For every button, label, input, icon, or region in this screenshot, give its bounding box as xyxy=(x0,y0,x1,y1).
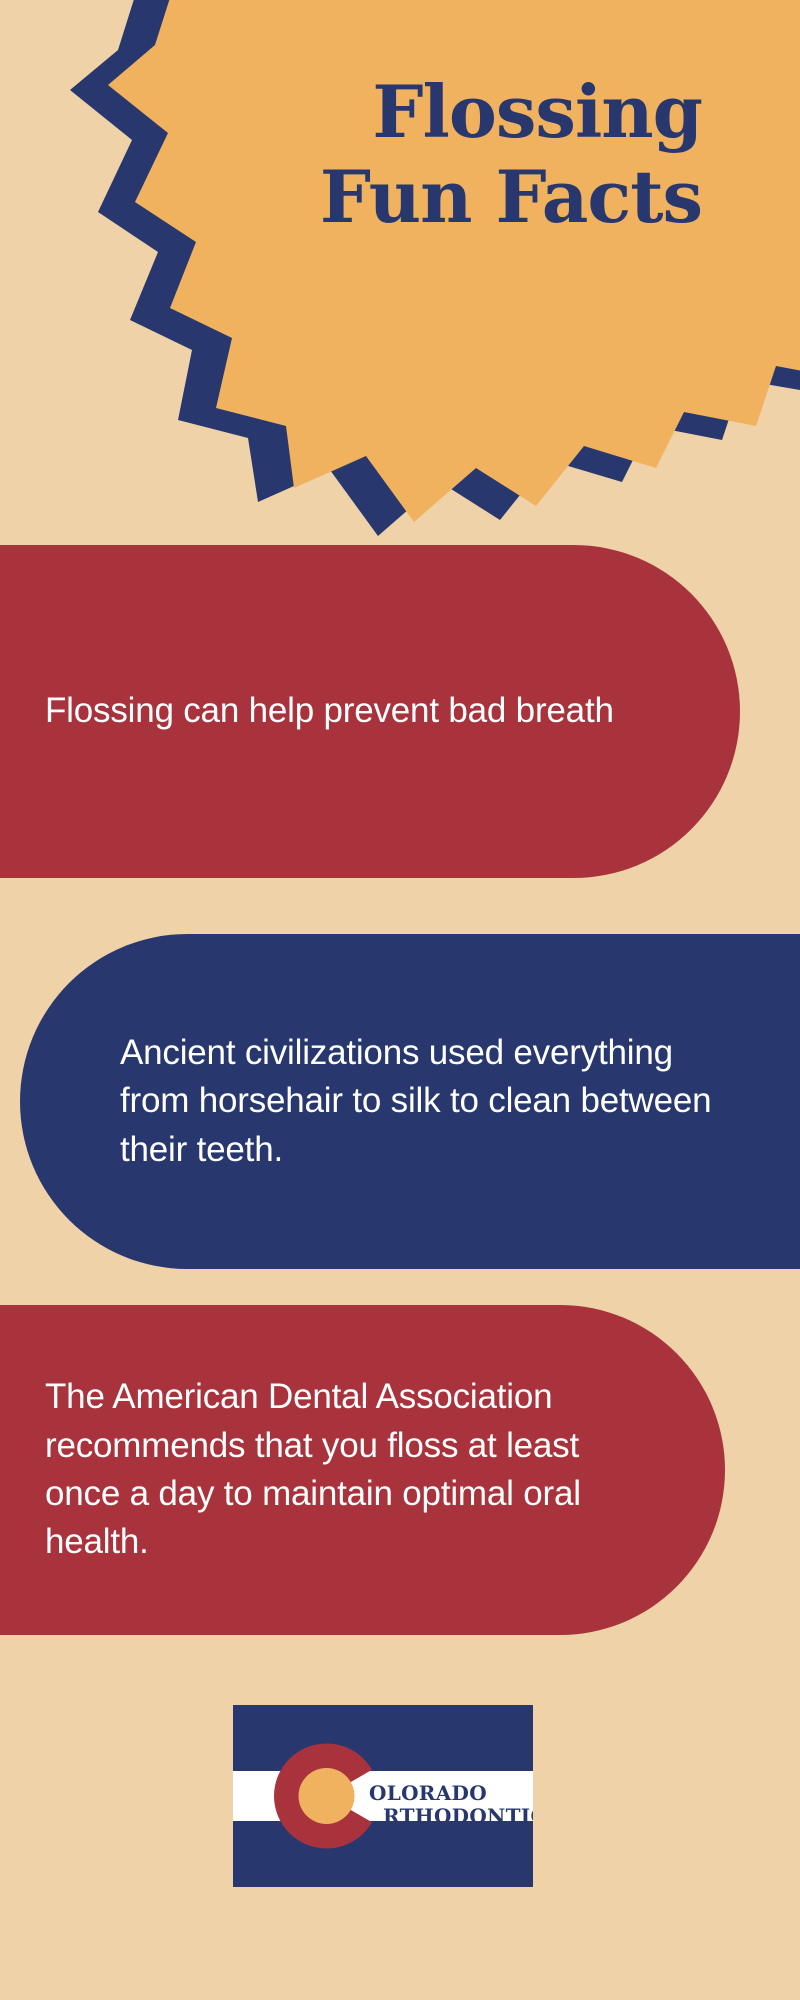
logo-line-1: OLORADO xyxy=(369,1781,487,1805)
fact-card-ancient-civilizations: Ancient civilizations used everything fr… xyxy=(20,934,800,1269)
page-title: Flossing Fun Facts xyxy=(0,70,730,240)
flag-stripe-bottom xyxy=(233,1821,533,1887)
infographic-canvas: Flossing Fun Facts Flossing can help pre… xyxy=(0,0,800,2000)
colorado-orthodontics-logo[interactable]: OLORADO RTHODONTICS xyxy=(233,1705,533,1887)
title-line-1: Flossing xyxy=(0,70,702,155)
title-line-2: Fun Facts xyxy=(0,155,702,240)
flag-stripe-top xyxy=(233,1705,533,1771)
fact-card-bad-breath: Flossing can help prevent bad breath xyxy=(0,545,740,878)
gold-disc xyxy=(299,1768,355,1824)
fact-text: Ancient civilizations used everything fr… xyxy=(120,1029,740,1174)
fact-card-ada-recommendation: The American Dental Association recommen… xyxy=(0,1305,725,1635)
logo-line-2: RTHODONTICS xyxy=(383,1804,533,1828)
fact-text: The American Dental Association recommen… xyxy=(45,1373,615,1566)
fact-text: Flossing can help prevent bad breath xyxy=(45,687,614,735)
